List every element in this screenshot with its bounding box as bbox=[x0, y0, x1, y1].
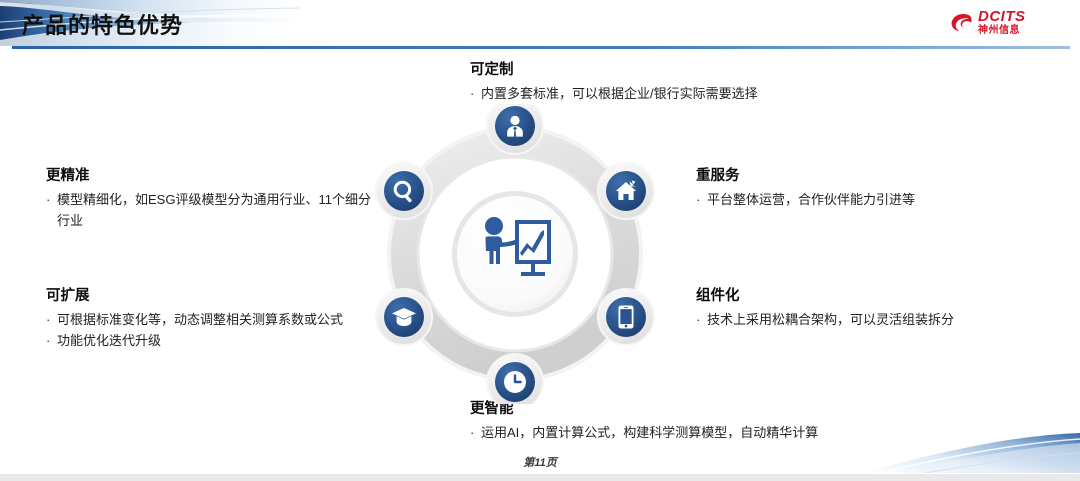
feature-title: 组件化 bbox=[696, 287, 1026, 305]
bullet-marker: · bbox=[696, 189, 707, 210]
company-logo: DCITS 神州信息 bbox=[948, 6, 1066, 40]
feature-block-accurate: 更精准 · 模型精细化，如ESG评级模型分为通用行业、11个细分行业 bbox=[46, 167, 376, 231]
bullet-marker: · bbox=[470, 422, 481, 443]
feature-bullet: · 可根据标准变化等，动态调整相关测算系数或公式 bbox=[46, 309, 376, 330]
logo-text: DCITS 神州信息 bbox=[978, 9, 1064, 37]
feature-bullet-text: 可根据标准变化等，动态调整相关测算系数或公式 bbox=[57, 309, 376, 330]
feature-block-service: 重服务 · 平台整体运营，合作伙伴能力引进等 bbox=[696, 167, 1026, 210]
feature-title: 重服务 bbox=[696, 167, 1026, 185]
bullet-marker: · bbox=[696, 309, 707, 330]
feature-block-extensible: 可扩展 · 可根据标准变化等，动态调整相关测算系数或公式 · 功能优化迭代升级 bbox=[46, 287, 376, 351]
feature-bullet-text: 功能优化迭代升级 bbox=[57, 330, 376, 351]
mobile-phone-icon bbox=[619, 306, 634, 329]
header-divider-rule bbox=[12, 46, 1070, 49]
feature-bullet: · 运用AI，内置计算公式，构建科学测算模型，自动精华计算 bbox=[470, 422, 930, 443]
bullet-marker: · bbox=[46, 189, 57, 231]
page-number: 第11页 bbox=[0, 454, 1080, 470]
page-title: 产品的特色优势 bbox=[22, 8, 183, 40]
feature-bullet-text: 模型精细化，如ESG评级模型分为通用行业、11个细分行业 bbox=[57, 189, 376, 231]
logo-text-en: DCITS bbox=[978, 9, 1064, 24]
feature-title: 可定制 bbox=[470, 61, 900, 79]
feature-bullet: · 功能优化迭代升级 bbox=[46, 330, 376, 351]
feature-bullet: · 内置多套标准，可以根据企业/银行实际需要选择 bbox=[470, 83, 900, 104]
feature-title: 可扩展 bbox=[46, 287, 376, 305]
bullet-marker: · bbox=[46, 309, 57, 330]
feature-bullet: · 模型精细化，如ESG评级模型分为通用行业、11个细分行业 bbox=[46, 189, 376, 231]
feature-bullet-text: 技术上采用松耦合架构，可以灵活组装拆分 bbox=[707, 309, 1026, 330]
diagram-node-top bbox=[487, 104, 543, 154]
slide-header: 产品的特色优势 DCITS 神州信息 bbox=[0, 0, 1080, 46]
diagram-node-upper-left bbox=[376, 163, 432, 219]
feature-bullet-text: 运用AI，内置计算公式，构建科学测算模型，自动精华计算 bbox=[481, 422, 930, 443]
feature-bullet-text: 内置多套标准，可以根据企业/银行实际需要选择 bbox=[481, 83, 900, 104]
feature-block-customizable: 可定制 · 内置多套标准，可以根据企业/银行实际需要选择 bbox=[470, 61, 900, 104]
bullet-marker: · bbox=[470, 83, 481, 104]
feature-bullet: · 平台整体运营，合作伙伴能力引进等 bbox=[696, 189, 1026, 210]
feature-block-intelligent: 更智能 · 运用AI，内置计算公式，构建科学测算模型，自动精华计算 bbox=[470, 400, 930, 443]
feature-block-componentized: 组件化 · 技术上采用松耦合架构，可以灵活组装拆分 bbox=[696, 287, 1026, 330]
feature-bullet-text: 平台整体运营，合作伙伴能力引进等 bbox=[707, 189, 1026, 210]
logo-text-cn: 神州信息 bbox=[978, 24, 1064, 37]
dcits-swirl-icon bbox=[948, 10, 974, 36]
slide: 产品的特色优势 DCITS 神州信息 可定制 · 内置多套标准，可以根据企业/银… bbox=[0, 0, 1080, 481]
bullet-marker: · bbox=[46, 330, 57, 351]
diagram-node-bottom bbox=[487, 354, 543, 404]
footer-band bbox=[0, 474, 1080, 481]
hub-and-spoke-diagram bbox=[372, 104, 658, 404]
clock-icon bbox=[504, 371, 526, 393]
feature-title: 更精准 bbox=[46, 167, 376, 185]
diagram-node-lower-right bbox=[598, 289, 654, 345]
feature-bullet: · 技术上采用松耦合架构，可以灵活组装拆分 bbox=[696, 309, 1026, 330]
diagram-node-upper-right bbox=[598, 163, 654, 219]
diagram-node-lower-left bbox=[376, 289, 432, 345]
